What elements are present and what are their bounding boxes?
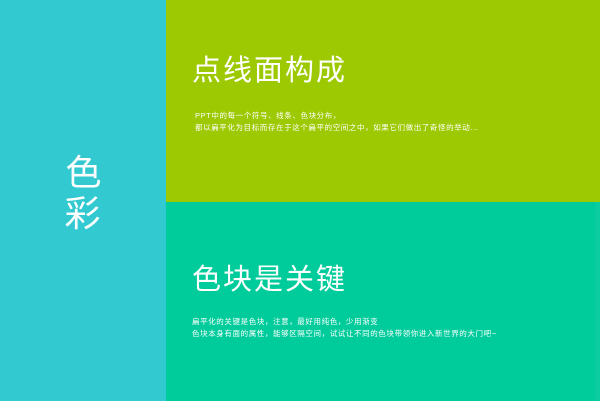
panel-dots-lines-planes-body: PPT中的每一个符号、线条、色块分布， 都以扁平化为目标而存在于这个扁平的空间之…	[195, 110, 478, 134]
panel-dots-lines-planes: 点线面构成 PPT中的每一个符号、线条、色块分布， 都以扁平化为目标而存在于这个…	[166, 0, 600, 202]
body-line: 扁平化的关键是色块，注意，最好用纯色，少用渐变	[192, 316, 497, 328]
panel-color-blocks-body: 扁平化的关键是色块，注意，最好用纯色，少用渐变 色块本身有面的属性，能够区隔空间…	[192, 316, 497, 340]
body-line: 都以扁平化为目标而存在于这个扁平的空间之中，如果它们做出了奇怪的举动...	[195, 122, 478, 134]
body-line: PPT中的每一个符号、线条、色块分布，	[195, 110, 478, 122]
panel-color-blocks: 色块是关键 扁平化的关键是色块，注意，最好用纯色，少用渐变 色块本身有面的属性，…	[166, 202, 600, 401]
slide-canvas: 色 彩 点线面构成 PPT中的每一个符号、线条、色块分布， 都以扁平化为目标而存…	[0, 0, 600, 401]
panels-column: 点线面构成 PPT中的每一个符号、线条、色块分布， 都以扁平化为目标而存在于这个…	[166, 0, 600, 401]
sidebar-panel: 色 彩	[0, 0, 166, 401]
body-line: 色块本身有面的属性，能够区隔空间，试试让不同的色块带领你进入新世界的大门吧~	[192, 328, 497, 340]
panel-dots-lines-planes-title: 点线面构成	[192, 54, 347, 88]
panel-color-blocks-title: 色块是关键	[192, 263, 347, 297]
sidebar-title: 色 彩	[0, 152, 166, 234]
